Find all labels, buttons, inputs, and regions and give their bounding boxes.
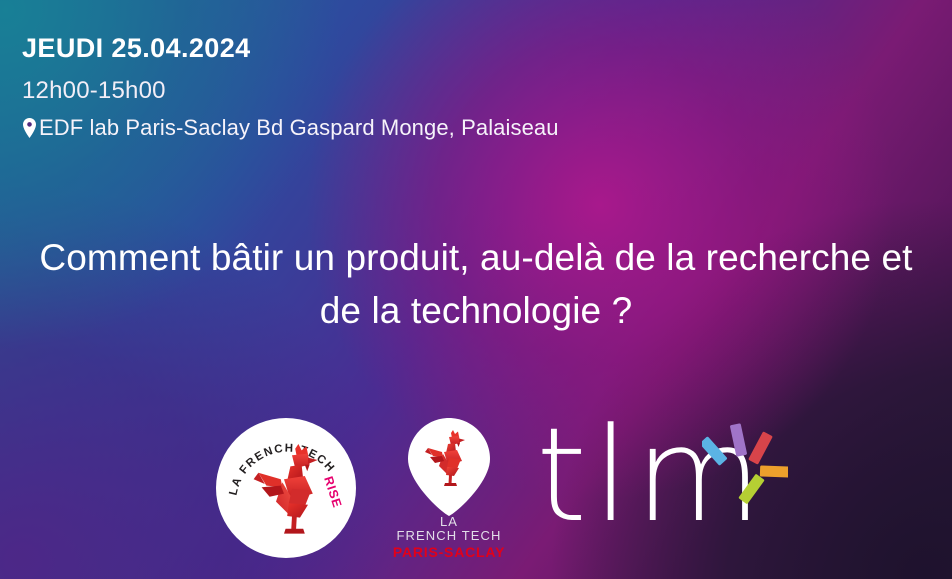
event-details-block: JEUDI 25.04.2024 12h00-15h00 EDF lab Par… <box>22 34 559 140</box>
event-headline: Comment bâtir un produit, au-delà de la … <box>0 232 952 337</box>
map-pin-icon <box>22 118 37 138</box>
event-poster: JEUDI 25.04.2024 12h00-15h00 EDF lab Par… <box>0 0 952 579</box>
logo-line-3: PARIS-SACLAY <box>388 544 510 562</box>
logo-french-tech-rise: LA FRENCH TECH RISE <box>216 418 356 558</box>
french-tech-rise-mark: LA FRENCH TECH RISE <box>216 418 356 558</box>
event-location: EDF lab Paris-Saclay Bd Gaspard Monge, P… <box>22 115 559 140</box>
accent-text: RISE <box>321 475 344 510</box>
event-location-text: EDF lab Paris-Saclay Bd Gaspard Monge, P… <box>39 115 559 140</box>
logo-line-2: FRENCH TECH <box>388 528 510 544</box>
logo-tlm: tlm <box>536 410 786 560</box>
french-tech-pin-mark <box>408 418 490 516</box>
event-time: 12h00-15h00 <box>22 78 559 104</box>
starburst-icon <box>702 420 788 506</box>
logo-french-tech-paris-saclay: LA FRENCH TECH PARIS-SACLAY <box>388 418 510 568</box>
logo-row: LA FRENCH TECH RISE <box>0 404 952 579</box>
event-date: JEUDI 25.04.2024 <box>22 34 559 64</box>
logo-pin-shape <box>408 418 490 516</box>
